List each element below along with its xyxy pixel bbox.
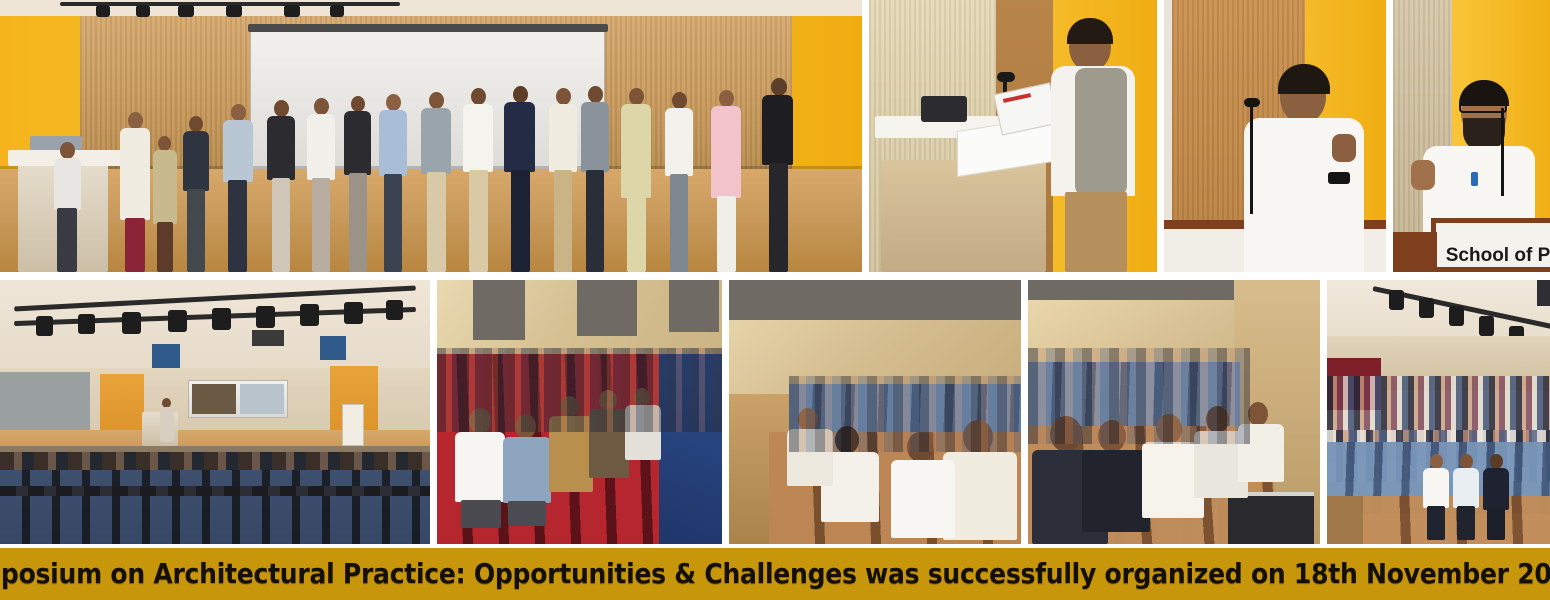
stage-light — [344, 302, 363, 324]
attendee — [1453, 454, 1479, 540]
stage-light — [136, 5, 150, 17]
stage-light — [36, 316, 53, 336]
raised-hand — [1332, 134, 1356, 162]
attendee — [1423, 454, 1449, 540]
side-table — [1228, 492, 1314, 544]
person — [306, 98, 336, 272]
collage-top-row: School of P — [0, 0, 1550, 272]
person — [222, 104, 254, 272]
speaker — [160, 398, 174, 442]
photo-audience-standing-pledge — [1327, 280, 1550, 544]
eyeglasses — [1459, 102, 1507, 113]
person — [504, 86, 536, 272]
photo-speaker-podium-documents — [869, 0, 1157, 272]
person — [462, 88, 494, 272]
raised-hand — [1411, 160, 1435, 190]
person — [182, 116, 210, 272]
person — [710, 90, 742, 272]
stage-light — [122, 312, 141, 334]
stage-light — [212, 308, 231, 330]
person — [266, 100, 296, 272]
caption-banner: One Day National Symposium on Architectu… — [0, 548, 1550, 600]
stage-light — [78, 314, 95, 334]
stage-light — [226, 5, 242, 17]
stage-light — [386, 300, 403, 320]
photo-speaker-gesturing — [1164, 0, 1386, 272]
person — [344, 96, 372, 272]
stage-light — [256, 306, 275, 328]
person — [52, 142, 82, 272]
attendee — [1483, 454, 1509, 540]
stage-light — [284, 5, 300, 17]
person — [118, 112, 152, 272]
stage-light — [330, 5, 344, 17]
lectern-sign: School of P — [1431, 218, 1550, 272]
lectern-sign-text: School of P — [1446, 245, 1550, 267]
person — [420, 92, 452, 272]
collage-bottom-row — [0, 280, 1550, 544]
photo-audience-brown-blue-seats — [729, 280, 1021, 544]
speaker — [1240, 42, 1370, 272]
photo-speaker-bearded-glasses: School of P — [1393, 0, 1550, 272]
podium — [881, 160, 1046, 272]
stage-light — [96, 5, 110, 17]
standing-banner — [342, 404, 364, 446]
photo-audience-front-rows — [1028, 280, 1320, 544]
person — [152, 132, 178, 272]
photo-auditorium-wide-view — [0, 280, 430, 544]
caption-text: One Day National Symposium on Architectu… — [0, 560, 1550, 588]
stage-light — [1449, 306, 1464, 326]
stage-light — [1419, 298, 1434, 318]
speaker — [1045, 0, 1141, 272]
photo-group-photo-stage — [0, 0, 862, 272]
person — [548, 88, 578, 272]
stage-light — [1479, 316, 1494, 336]
photo-collage: School of P — [0, 0, 1550, 600]
person — [378, 94, 408, 272]
person — [620, 88, 652, 272]
stage-light — [1389, 290, 1404, 310]
person — [580, 86, 610, 272]
stage-light — [300, 304, 319, 326]
stage-light — [168, 310, 187, 332]
photo-audience-red-seats — [437, 280, 722, 544]
stage-light — [178, 5, 194, 17]
person — [762, 78, 794, 272]
person — [664, 92, 694, 272]
